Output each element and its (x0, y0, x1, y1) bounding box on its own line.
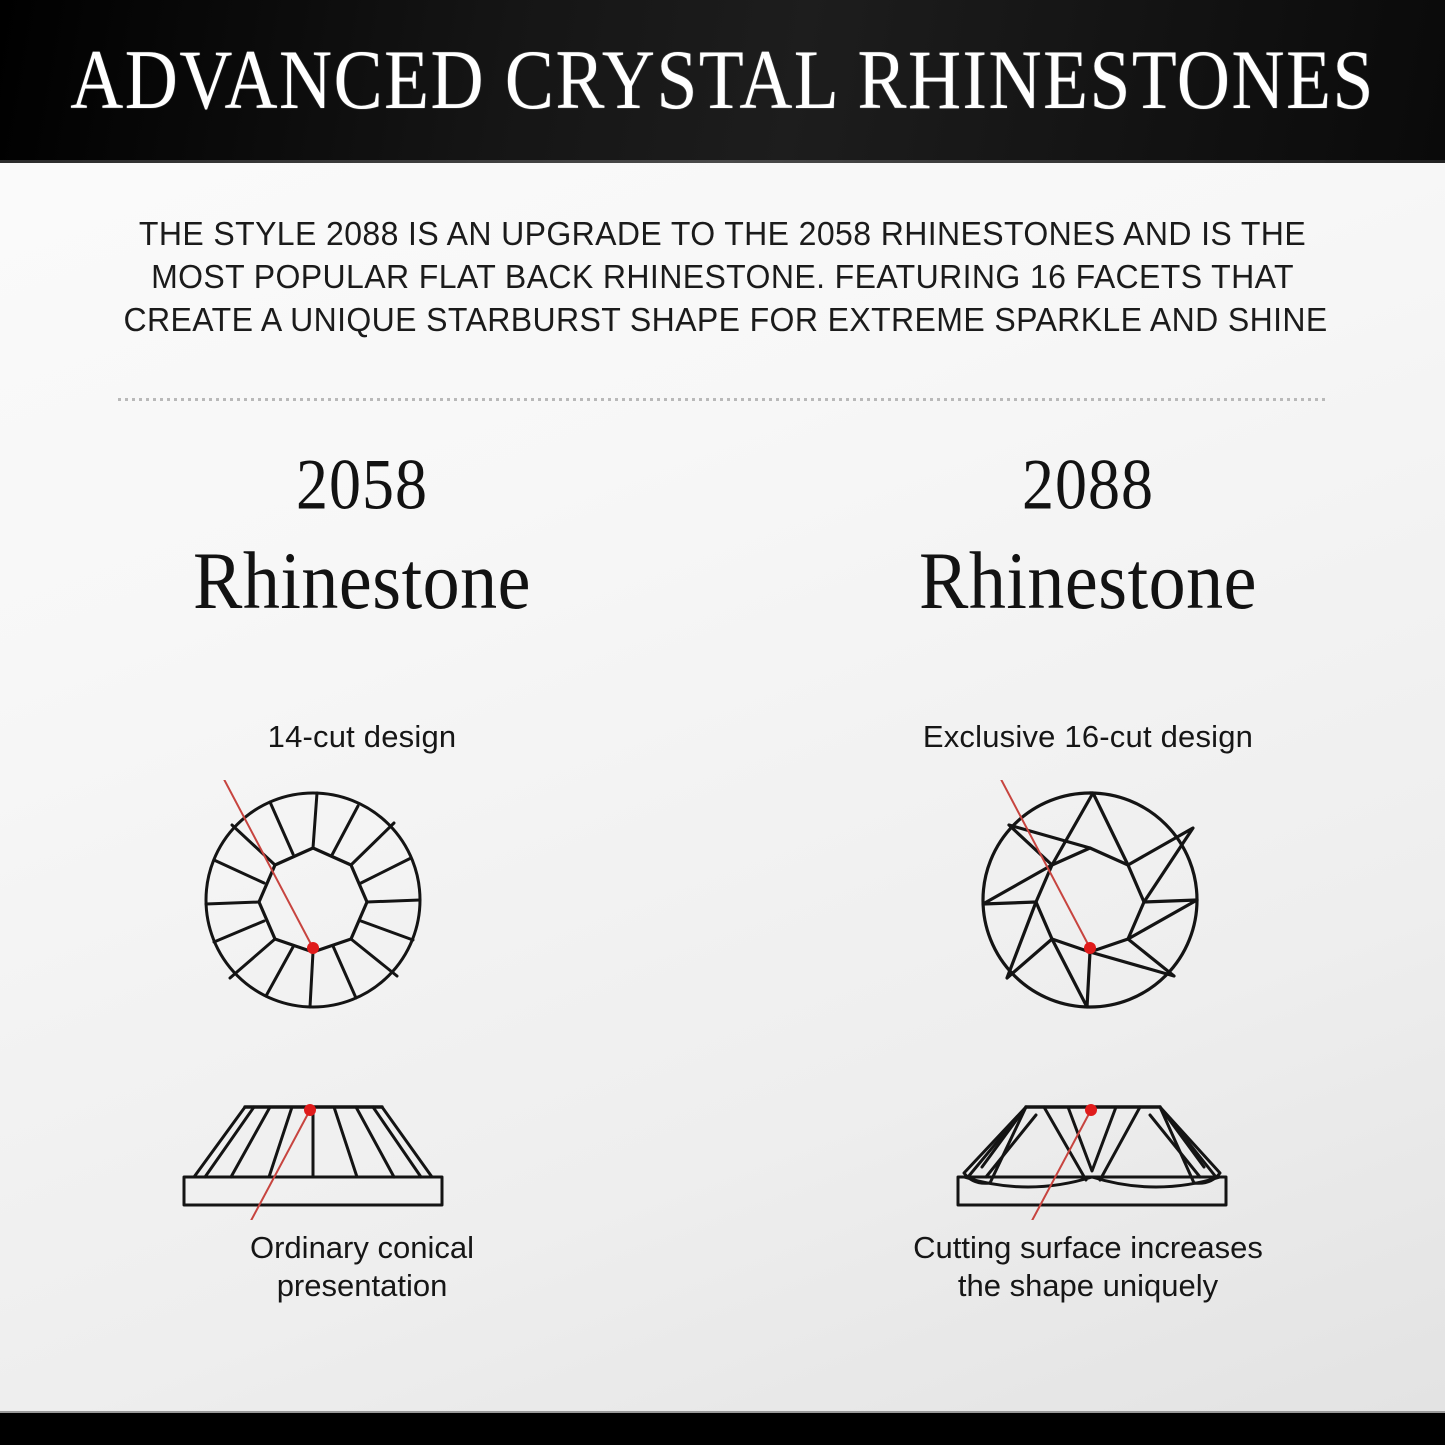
caption-2088-line-2: the shape uniquely (768, 1267, 1408, 1305)
column-2088-title: 2088 Rhinestone (768, 455, 1408, 618)
marker-dot-2088 (1084, 942, 1096, 954)
gem-side-2058-icon (42, 1085, 682, 1220)
cut-label-2058: 14-cut design (42, 719, 682, 755)
infographic-page: ADVANCED CRYSTAL RHINESTONES THE STYLE 2… (0, 0, 1445, 1445)
column-2058-title: 2058 Rhinestone (42, 455, 682, 618)
caption-2088-line-1: Cutting surface increases (768, 1229, 1408, 1267)
footer-banner (0, 1413, 1445, 1445)
column-2058-number: 2058 (42, 447, 682, 522)
rhinestone-2058-top-view (42, 780, 682, 1015)
rhinestone-2088-side-view (768, 1085, 1408, 1220)
marker-dot-2088-side (1085, 1104, 1097, 1116)
caption-2088: Cutting surface increases the shape uniq… (768, 1229, 1408, 1305)
cut-label-2088: Exclusive 16-cut design (768, 719, 1408, 755)
gem-side-2088-icon (768, 1085, 1408, 1220)
marker-dot-2058-side (304, 1104, 316, 1116)
header-banner: ADVANCED CRYSTAL RHINESTONES (0, 0, 1445, 163)
column-2058-word: Rhinestone (42, 540, 682, 625)
intro-line-1: THE STYLE 2088 IS AN UPGRADE TO THE 2058… (124, 212, 1322, 255)
intro-paragraph: THE STYLE 2088 IS AN UPGRADE TO THE 2058… (124, 212, 1322, 341)
gem-top-2088-icon (768, 780, 1408, 1015)
intro-line-3: CREATE A UNIQUE STARBURST SHAPE FOR EXTR… (124, 298, 1322, 341)
caption-2058-line-1: Ordinary conical (42, 1229, 682, 1267)
rhinestone-2058-side-view (42, 1085, 682, 1220)
caption-2058: Ordinary conical presentation (42, 1229, 682, 1305)
caption-2058-line-2: presentation (42, 1267, 682, 1305)
rhinestone-2088-top-view (768, 780, 1408, 1015)
page-title: ADVANCED CRYSTAL RHINESTONES (70, 37, 1375, 127)
column-2088-word: Rhinestone (768, 540, 1408, 625)
intro-line-2: MOST POPULAR FLAT BACK RHINESTONE. FEATU… (124, 255, 1322, 298)
column-2058: 2058 Rhinestone 14-cut design (42, 455, 682, 1355)
section-divider (118, 398, 1328, 401)
column-2088-number: 2088 (768, 447, 1408, 522)
gem-top-2058-icon (42, 780, 682, 1015)
marker-dot-2058 (307, 942, 319, 954)
header-bottom-edge (0, 160, 1445, 163)
column-2088: 2088 Rhinestone Exclusive 16-cut design (768, 455, 1408, 1355)
